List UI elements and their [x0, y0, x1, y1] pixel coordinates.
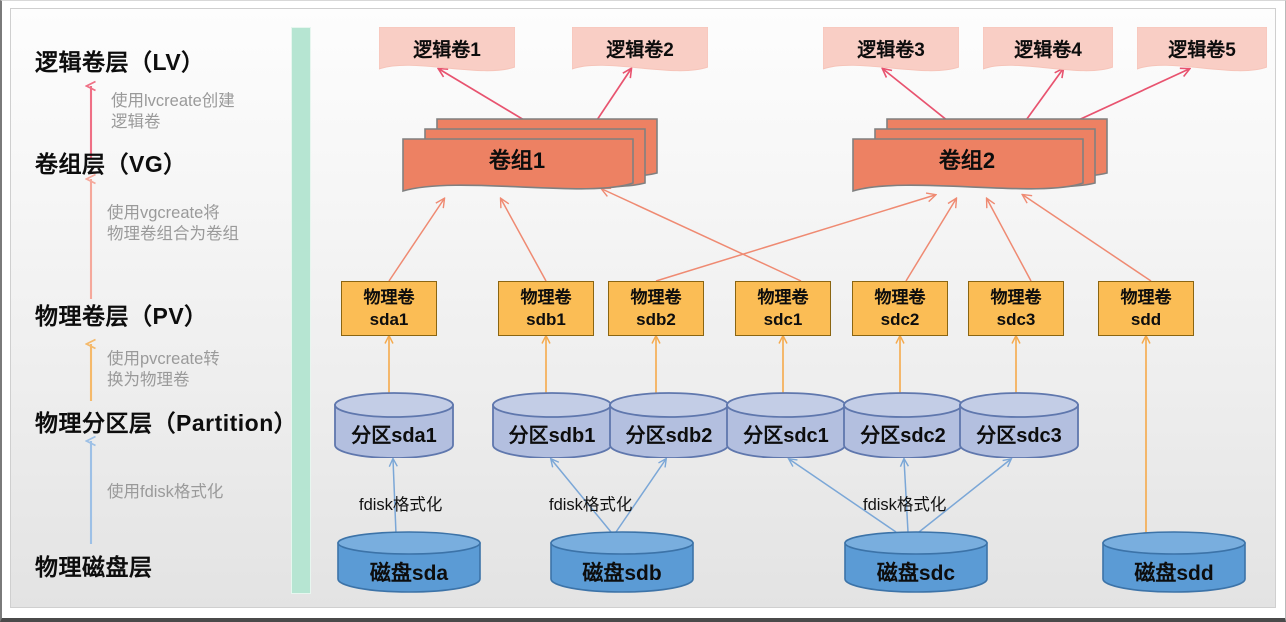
partition-sdc2-shape [842, 392, 964, 458]
physical-volume-sdb2[interactable]: 物理卷 sdb2 [608, 281, 704, 336]
step-note-vgcreate: 使用vgcreate将 物理卷组合为卷组 [107, 203, 239, 245]
partition-sda1-shape [333, 392, 455, 458]
lv2-shape [572, 27, 708, 75]
layer-label-disk: 物理磁盘层 [35, 548, 153, 582]
edge-pvsdc3-vg2 [987, 199, 1031, 281]
logical-volume-lv1[interactable]: 逻辑卷1 [379, 27, 515, 75]
fdisk-note-sdb: fdisk格式化 [549, 491, 632, 515]
physical-volume-sda1-line1: 物理卷 [364, 287, 415, 309]
fdisk-note-sdc: fdisk格式化 [863, 491, 946, 515]
layer-label-lv: 逻辑卷层（LV） [35, 43, 205, 77]
physical-volume-sdc1-line1: 物理卷 [758, 287, 809, 309]
physical-volume-sdc2-line1: 物理卷 [875, 287, 926, 309]
partition-sdb1-shape [491, 392, 613, 458]
disk-sdd-shape [1101, 531, 1247, 593]
logical-volume-lv4[interactable]: 逻辑卷4 [983, 27, 1113, 75]
partition-sdc1-shape [725, 392, 847, 458]
partition-sda1[interactable]: 分区sda1 [333, 392, 455, 458]
physical-volume-sdd-line2: sdd [1131, 309, 1161, 331]
disk-sda[interactable]: 磁盘sda [336, 531, 482, 593]
logical-volume-lv2[interactable]: 逻辑卷2 [572, 27, 708, 75]
section-divider-bar [291, 27, 311, 594]
edge-pvsdc2-vg2 [906, 199, 956, 281]
disk-sdc[interactable]: 磁盘sdc [843, 531, 989, 593]
physical-volume-sdc1[interactable]: 物理卷 sdc1 [735, 281, 831, 336]
logical-volume-lv3[interactable]: 逻辑卷3 [823, 27, 959, 75]
partition-sdc1[interactable]: 分区sdc1 [725, 392, 847, 458]
partition-sdc2[interactable]: 分区sdc2 [842, 392, 964, 458]
physical-volume-sdc3-line2: sdc3 [997, 309, 1036, 331]
fdisk-note-sda: fdisk格式化 [359, 491, 442, 515]
partition-sdc3-shape [958, 392, 1080, 458]
logical-volume-lv5[interactable]: 逻辑卷5 [1137, 27, 1267, 75]
physical-volume-sda1[interactable]: 物理卷 sda1 [341, 281, 437, 336]
vg1-shape [399, 115, 661, 197]
lv1-shape [379, 27, 515, 75]
physical-volume-sda1-line2: sda1 [370, 309, 409, 331]
step-note-pvcreate: 使用pvcreate转 换为物理卷 [107, 349, 220, 391]
disk-sdb-shape [549, 531, 695, 593]
physical-volume-sdb1-line2: sdb1 [526, 309, 566, 331]
edge-pvsdb2-vg2 [656, 195, 935, 281]
disk-sdb[interactable]: 磁盘sdb [549, 531, 695, 593]
step-note-lvcreate: 使用lvcreate创建 逻辑卷 [111, 91, 235, 133]
volume-group-vg2[interactable]: 卷组2 [849, 115, 1111, 197]
physical-volume-sdd-line1: 物理卷 [1121, 287, 1172, 309]
step-note-fdisk: 使用fdisk格式化 [107, 482, 223, 503]
disk-sda-shape [336, 531, 482, 593]
physical-volume-sdc3-line1: 物理卷 [991, 287, 1042, 309]
vg2-shape [849, 115, 1111, 197]
lvm-architecture-diagram: 逻辑卷层（LV） 卷组层（VG） 物理卷层（PV） 物理分区层（Partitio… [0, 0, 1286, 622]
partition-sdb2[interactable]: 分区sdb2 [608, 392, 730, 458]
partition-sdc3[interactable]: 分区sdc3 [958, 392, 1080, 458]
partition-to-pv-edges [389, 336, 1016, 394]
partition-sdb1[interactable]: 分区sdb1 [491, 392, 613, 458]
diagram-canvas: 逻辑卷层（LV） 卷组层（VG） 物理卷层（PV） 物理分区层（Partitio… [10, 8, 1276, 608]
edge-pvsdd-vg2 [1023, 195, 1151, 281]
disk-sdc-shape [843, 531, 989, 593]
edge-pvsda1-vg1 [389, 199, 444, 281]
layer-label-partition: 物理分区层（Partition） [35, 404, 297, 438]
edge-pvsdb1-vg1 [501, 199, 546, 281]
lv5-shape [1137, 27, 1267, 75]
physical-volume-sdc3[interactable]: 物理卷 sdc3 [968, 281, 1064, 336]
lv4-shape [983, 27, 1113, 75]
physical-volume-sdc1-line2: sdc1 [764, 309, 803, 331]
physical-volume-sdb2-line1: 物理卷 [631, 287, 682, 309]
physical-volume-sdb1[interactable]: 物理卷 sdb1 [498, 281, 594, 336]
physical-volume-sdc2-line2: sdc2 [881, 309, 920, 331]
physical-volume-sdb2-line2: sdb2 [636, 309, 676, 331]
lv3-shape [823, 27, 959, 75]
disk-sdd[interactable]: 磁盘sdd [1101, 531, 1247, 593]
physical-volume-sdc2[interactable]: 物理卷 sdc2 [852, 281, 948, 336]
layer-label-pv: 物理卷层（PV） [35, 297, 208, 331]
layer-label-vg: 卷组层（VG） [35, 145, 187, 179]
partition-sdb2-shape [608, 392, 730, 458]
physical-volume-sdd[interactable]: 物理卷 sdd [1098, 281, 1194, 336]
volume-group-vg1[interactable]: 卷组1 [399, 115, 661, 197]
pv-to-vg-edges [389, 189, 1151, 281]
physical-volume-sdb1-line1: 物理卷 [521, 287, 572, 309]
